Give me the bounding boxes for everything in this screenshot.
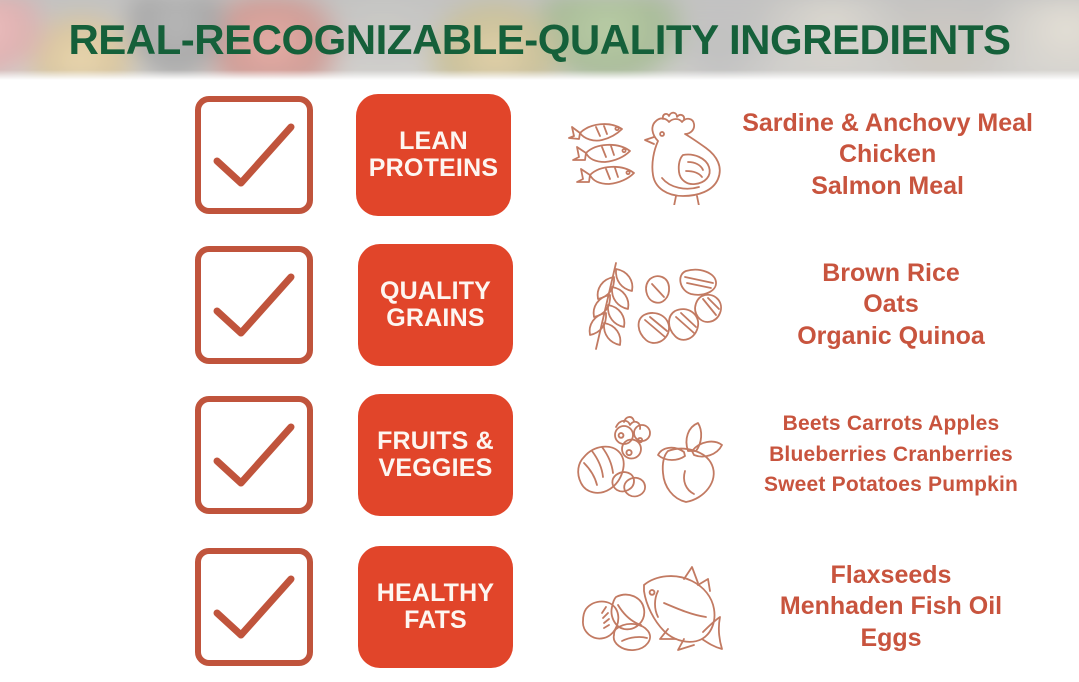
ingredient-row-fruits-veggies: FRUITS & VEGGIES (0, 380, 1079, 530)
ingredient-list-healthy-fats: Flaxseeds Menhaden Fish Oil Eggs (749, 560, 1079, 655)
badge-line-1: FRUITS & (377, 428, 494, 455)
checkbox-cell (195, 246, 355, 364)
checkmark-icon (211, 571, 297, 643)
ingredient-line: Sweet Potatoes Pumpkin (764, 470, 1018, 500)
ingredient-list-lean-proteins: Sardine & Anchovy Meal Chicken Salmon Me… (742, 108, 1079, 203)
checkbox-healthy-fats[interactable] (195, 548, 313, 666)
checkbox-cell (195, 96, 353, 214)
checkbox-fruits-veggies[interactable] (195, 396, 313, 514)
page-title: REAL-RECOGNIZABLE-QUALITY INGREDIENTS (0, 16, 1079, 64)
checkbox-cell (195, 396, 355, 514)
ingredient-line: Chicken (839, 139, 936, 171)
badge-fruits-veggies[interactable]: FRUITS & VEGGIES (358, 394, 513, 516)
page-header: REAL-RECOGNIZABLE-QUALITY INGREDIENTS (0, 0, 1079, 80)
checkmark-icon (211, 269, 297, 341)
badge-line-2: VEGGIES (379, 455, 493, 482)
illustration-cell (560, 105, 743, 205)
badge-cell: QUALITY GRAINS (358, 244, 558, 366)
seeds-and-fish-icon (572, 557, 742, 657)
badge-quality-grains[interactable]: QUALITY GRAINS (358, 244, 513, 366)
ingredient-line: Eggs (860, 623, 921, 655)
badge-cell: HEALTHY FATS (358, 546, 558, 668)
ingredient-line: Blueberries Cranberries (769, 440, 1013, 470)
badge-line-1: QUALITY (380, 278, 491, 305)
ingredient-rows: LEAN PROTEINS (0, 80, 1079, 682)
ingredient-row-healthy-fats: HEALTHY FATS (0, 532, 1079, 682)
illustration-cell (564, 557, 749, 657)
illustration-cell (564, 405, 749, 505)
badge-line-2: PROTEINS (369, 155, 498, 182)
badge-line-2: FATS (404, 607, 467, 634)
checkmark-icon (211, 419, 297, 491)
ingredient-line: Menhaden Fish Oil (780, 591, 1002, 623)
fish-and-chicken-icon (566, 105, 736, 205)
illustration-cell (564, 255, 749, 355)
badge-healthy-fats[interactable]: HEALTHY FATS (358, 546, 513, 668)
ingredient-line: Salmon Meal (811, 171, 964, 203)
ingredient-line: Flaxseeds (831, 560, 952, 592)
carrot-berries-beet-icon (572, 405, 742, 505)
badge-line-1: HEALTHY (377, 580, 495, 607)
badge-line-2: GRAINS (386, 305, 484, 332)
ingredient-line: Sardine & Anchovy Meal (742, 108, 1033, 140)
ingredient-line: Brown Rice (822, 258, 960, 290)
ingredient-row-lean-proteins: LEAN PROTEINS (0, 80, 1079, 230)
ingredient-line: Oats (863, 289, 919, 321)
ingredient-list-quality-grains: Brown Rice Oats Organic Quinoa (749, 258, 1079, 353)
grain-stalk-and-seeds-icon (572, 255, 742, 355)
checkbox-lean-proteins[interactable] (195, 96, 313, 214)
checkbox-quality-grains[interactable] (195, 246, 313, 364)
badge-lean-proteins[interactable]: LEAN PROTEINS (356, 94, 511, 216)
ingredient-line: Beets Carrots Apples (783, 409, 1000, 439)
header-bottom-fade (0, 70, 1079, 80)
badge-line-1: LEAN (399, 128, 468, 155)
checkmark-icon (211, 119, 297, 191)
ingredient-list-fruits-veggies: Beets Carrots Apples Blueberries Cranber… (749, 409, 1079, 500)
badge-cell: FRUITS & VEGGIES (358, 394, 558, 516)
checkbox-cell (195, 548, 355, 666)
ingredient-line: Organic Quinoa (797, 321, 985, 353)
badge-cell: LEAN PROTEINS (356, 94, 554, 216)
ingredient-row-quality-grains: QUALITY GRAINS (0, 230, 1079, 380)
